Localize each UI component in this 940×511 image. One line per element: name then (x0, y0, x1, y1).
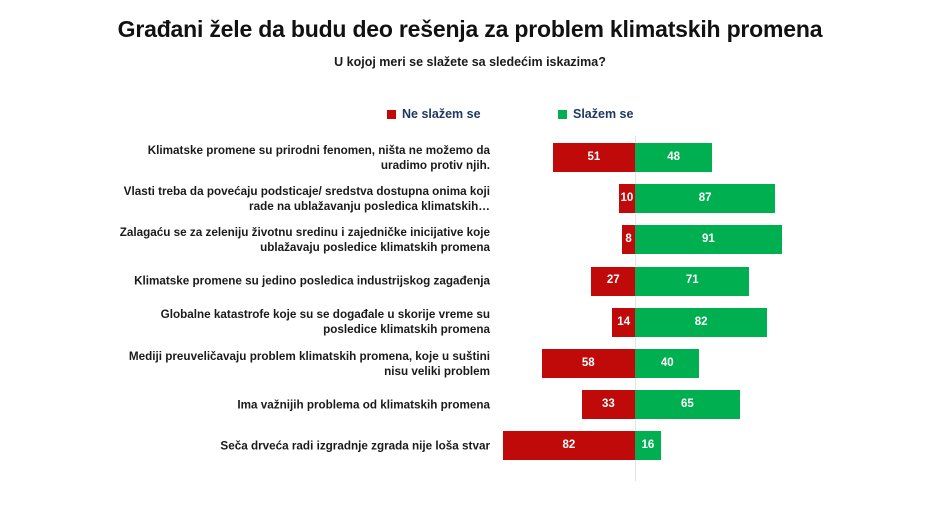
bar-negative[interactable]: 14 (612, 308, 635, 337)
bar-value-negative: 58 (582, 358, 595, 370)
bar-row: Klimatske promene su prirodni fenomen, n… (0, 143, 940, 172)
category-label: Seča drveća radi izgradnje zgrada nije l… (110, 438, 490, 453)
category-label: Ima važnijih problema od klimatskih prom… (110, 397, 490, 412)
bar-positive[interactable]: 91 (635, 225, 782, 254)
bar-value-positive: 40 (661, 358, 674, 370)
bar-value-positive: 91 (702, 234, 715, 246)
bar-negative[interactable]: 10 (619, 184, 635, 213)
bar-negative[interactable]: 51 (553, 143, 635, 172)
bar-negative[interactable]: 33 (582, 390, 635, 419)
bar-row: Ima važnijih problema od klimatskih prom… (0, 390, 940, 419)
bar-positive[interactable]: 82 (635, 308, 767, 337)
category-label: Zalagaću se za zeleniju životnu sredinu … (110, 225, 490, 255)
bar-value-negative: 82 (563, 440, 576, 452)
bar-value-positive: 65 (681, 399, 694, 411)
bar-negative[interactable]: 8 (622, 225, 635, 254)
category-label: Klimatske promene su jedino posledica in… (110, 274, 490, 289)
bar-positive[interactable]: 65 (635, 390, 740, 419)
bar-value-positive: 16 (641, 440, 654, 452)
bar-row: Zalagaću se za zeleniju životnu sredinu … (0, 225, 940, 254)
bar-row: Klimatske promene su jedino posledica in… (0, 267, 940, 296)
category-label: Vlasti treba da povećaju podsticaje/ sre… (110, 184, 490, 214)
bar-value-positive: 71 (686, 275, 699, 287)
bar-negative[interactable]: 82 (503, 431, 635, 460)
bar-value-negative: 33 (602, 399, 615, 411)
bar-row: Mediji preuveličavaju problem klimatskih… (0, 349, 940, 378)
bar-value-negative: 27 (607, 275, 620, 287)
bar-value-negative: 51 (587, 152, 600, 164)
category-label: Klimatske promene su prirodni fenomen, n… (110, 143, 490, 173)
bar-row: Seča drveća radi izgradnje zgrada nije l… (0, 431, 940, 460)
bar-value-negative: 8 (625, 234, 631, 246)
bar-value-negative: 10 (621, 193, 634, 205)
bar-positive[interactable]: 40 (635, 349, 699, 378)
bar-positive[interactable]: 71 (635, 267, 749, 296)
bar-value-positive: 87 (699, 193, 712, 205)
plot-area: Klimatske promene su prirodni fenomen, n… (0, 0, 940, 511)
bar-negative[interactable]: 58 (542, 349, 635, 378)
bar-value-positive: 48 (667, 152, 680, 164)
bar-negative[interactable]: 27 (591, 267, 635, 296)
bar-row: Globalne katastrofe koje su se događale … (0, 308, 940, 337)
bar-row: Vlasti treba da povećaju podsticaje/ sre… (0, 184, 940, 213)
category-label: Globalne katastrofe koje su se događale … (110, 307, 490, 337)
bar-positive[interactable]: 87 (635, 184, 775, 213)
bar-positive[interactable]: 48 (635, 143, 712, 172)
bar-value-negative: 14 (617, 317, 630, 329)
bar-value-positive: 82 (695, 317, 708, 329)
bar-positive[interactable]: 16 (635, 431, 661, 460)
chart-root: Građani žele da budu deo rešenja za prob… (0, 0, 940, 511)
category-label: Mediji preuveličavaju problem klimatskih… (110, 349, 490, 379)
